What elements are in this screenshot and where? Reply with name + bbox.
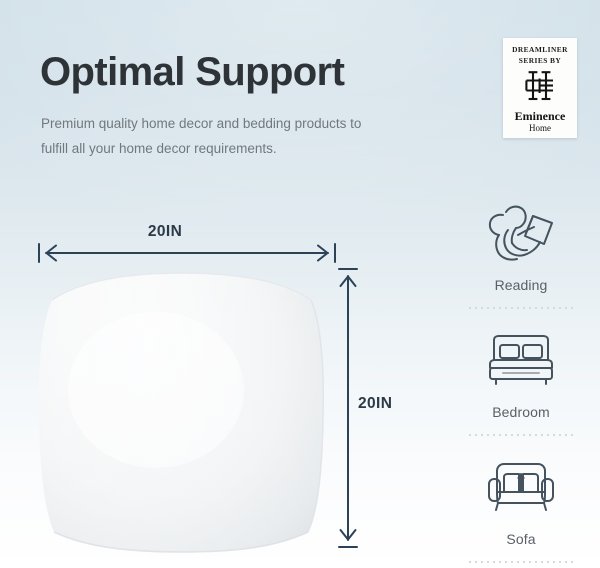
badge-line-2: SERIES BY — [519, 56, 561, 67]
infographic-canvas: Optimal Support Premium quality home dec… — [0, 0, 600, 568]
badge-line-1: DREAMLINER — [512, 45, 568, 56]
width-dimension-label: 20IN — [0, 223, 330, 241]
badge-brand-name: Eminence — [515, 110, 566, 122]
feature-item-reading: Reading — [455, 196, 587, 293]
brand-badge: DREAMLINER SERIES BY Eminence — [503, 38, 577, 138]
width-dimension-arrow — [34, 240, 340, 270]
feature-divider — [469, 561, 573, 563]
bed-icon — [485, 323, 557, 397]
feature-label-bedroom: Bedroom — [492, 404, 550, 420]
page-subtitle: Premium quality home decor and bedding p… — [41, 112, 381, 162]
feature-item-sofa: Sofa — [455, 450, 587, 547]
badge-brand-sub: Home — [529, 124, 551, 133]
eminence-monogram-icon — [524, 70, 556, 106]
person-reading-icon — [482, 196, 560, 270]
sofa-icon — [485, 450, 557, 524]
page-title: Optimal Support — [40, 52, 344, 94]
feature-label-sofa: Sofa — [506, 531, 535, 547]
feature-item-bedroom: Bedroom — [455, 323, 587, 420]
product-image-square-pillow — [36, 270, 326, 555]
usage-feature-list: Reading Be — [455, 196, 587, 563]
height-dimension-arrow — [332, 264, 364, 552]
feature-label-reading: Reading — [495, 277, 548, 293]
